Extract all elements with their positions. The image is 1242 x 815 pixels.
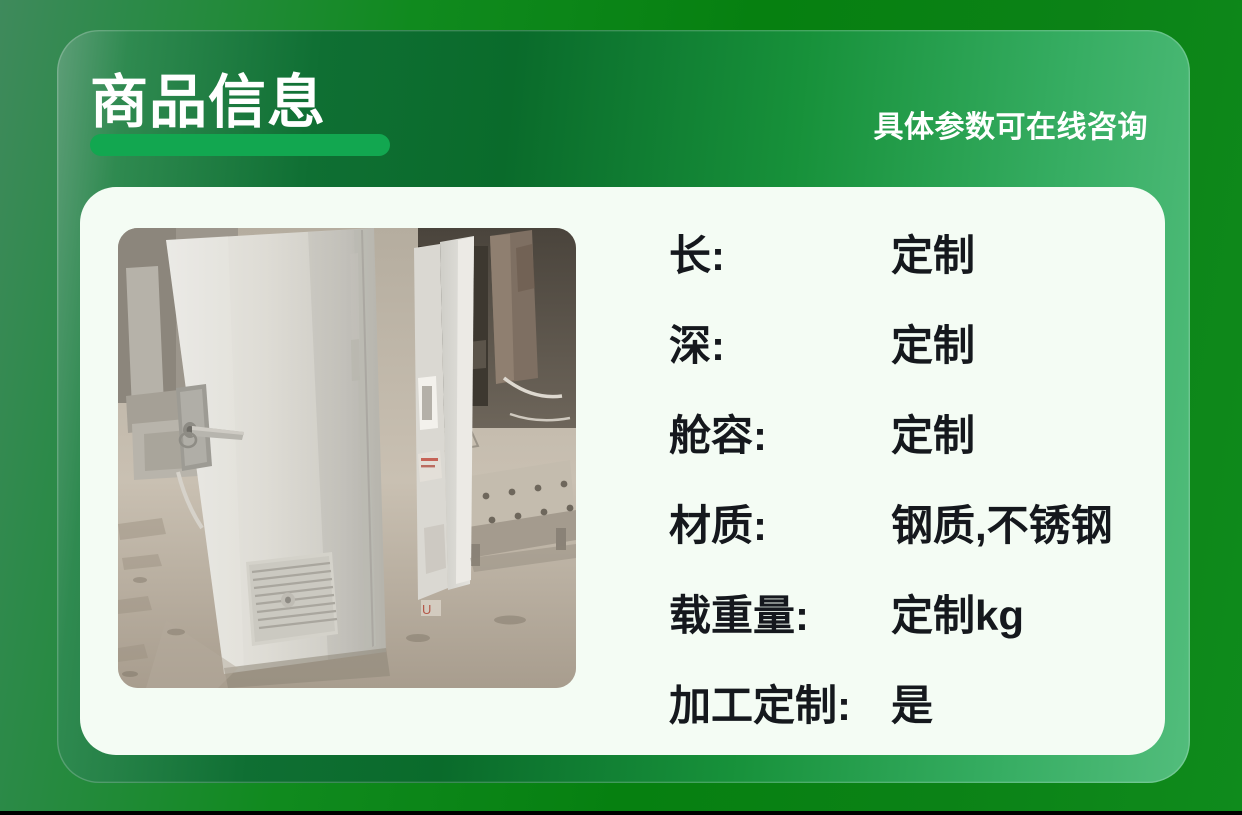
product-info-panel: 商品信息 具体参数可在线咨询 — [57, 30, 1190, 783]
bottom-black-strip — [0, 811, 1242, 815]
spec-value: 钢质,不锈钢 — [891, 481, 1113, 571]
spec-label: 材质: — [669, 481, 891, 571]
spec-label: 长: — [669, 211, 891, 301]
product-photo-image: U — [118, 228, 576, 688]
svg-text:U: U — [422, 602, 431, 617]
spec-row: 加工定制: 是 — [669, 661, 1139, 751]
page-title-text: 商品信息 — [90, 68, 326, 138]
spec-label: 加工定制: — [669, 661, 891, 751]
spec-value: 定制 — [891, 391, 975, 481]
spec-list: 长: 定制 深: 定制 舱容: 定制 材质: 钢质,不锈钢 载重量: — [669, 211, 1139, 731]
spec-row: 舱容: 定制 — [669, 391, 1139, 481]
spec-row: 深: 定制 — [669, 301, 1139, 391]
spec-row: 载重量: 定制kg — [669, 571, 1139, 661]
spec-value: 是 — [891, 661, 933, 751]
spec-value: 定制 — [891, 211, 975, 301]
spec-row: 长: 定制 — [669, 211, 1139, 301]
header-subtitle: 具体参数可在线咨询 — [874, 110, 1149, 146]
spec-value: 定制 — [891, 301, 975, 391]
spec-value: 定制kg — [891, 571, 1024, 661]
spec-row: 材质: 钢质,不锈钢 — [669, 481, 1139, 571]
page-title: 商品信息 — [90, 68, 326, 148]
page-root: 商品信息 具体参数可在线咨询 — [0, 0, 1242, 815]
spec-label: 舱容: — [669, 391, 891, 481]
product-photo[interactable]: U — [118, 228, 576, 688]
panel-header: 商品信息 具体参数可在线咨询 — [57, 30, 1190, 187]
info-card: U — [80, 187, 1165, 755]
spec-label: 载重量: — [669, 571, 891, 661]
spec-label: 深: — [669, 301, 891, 391]
